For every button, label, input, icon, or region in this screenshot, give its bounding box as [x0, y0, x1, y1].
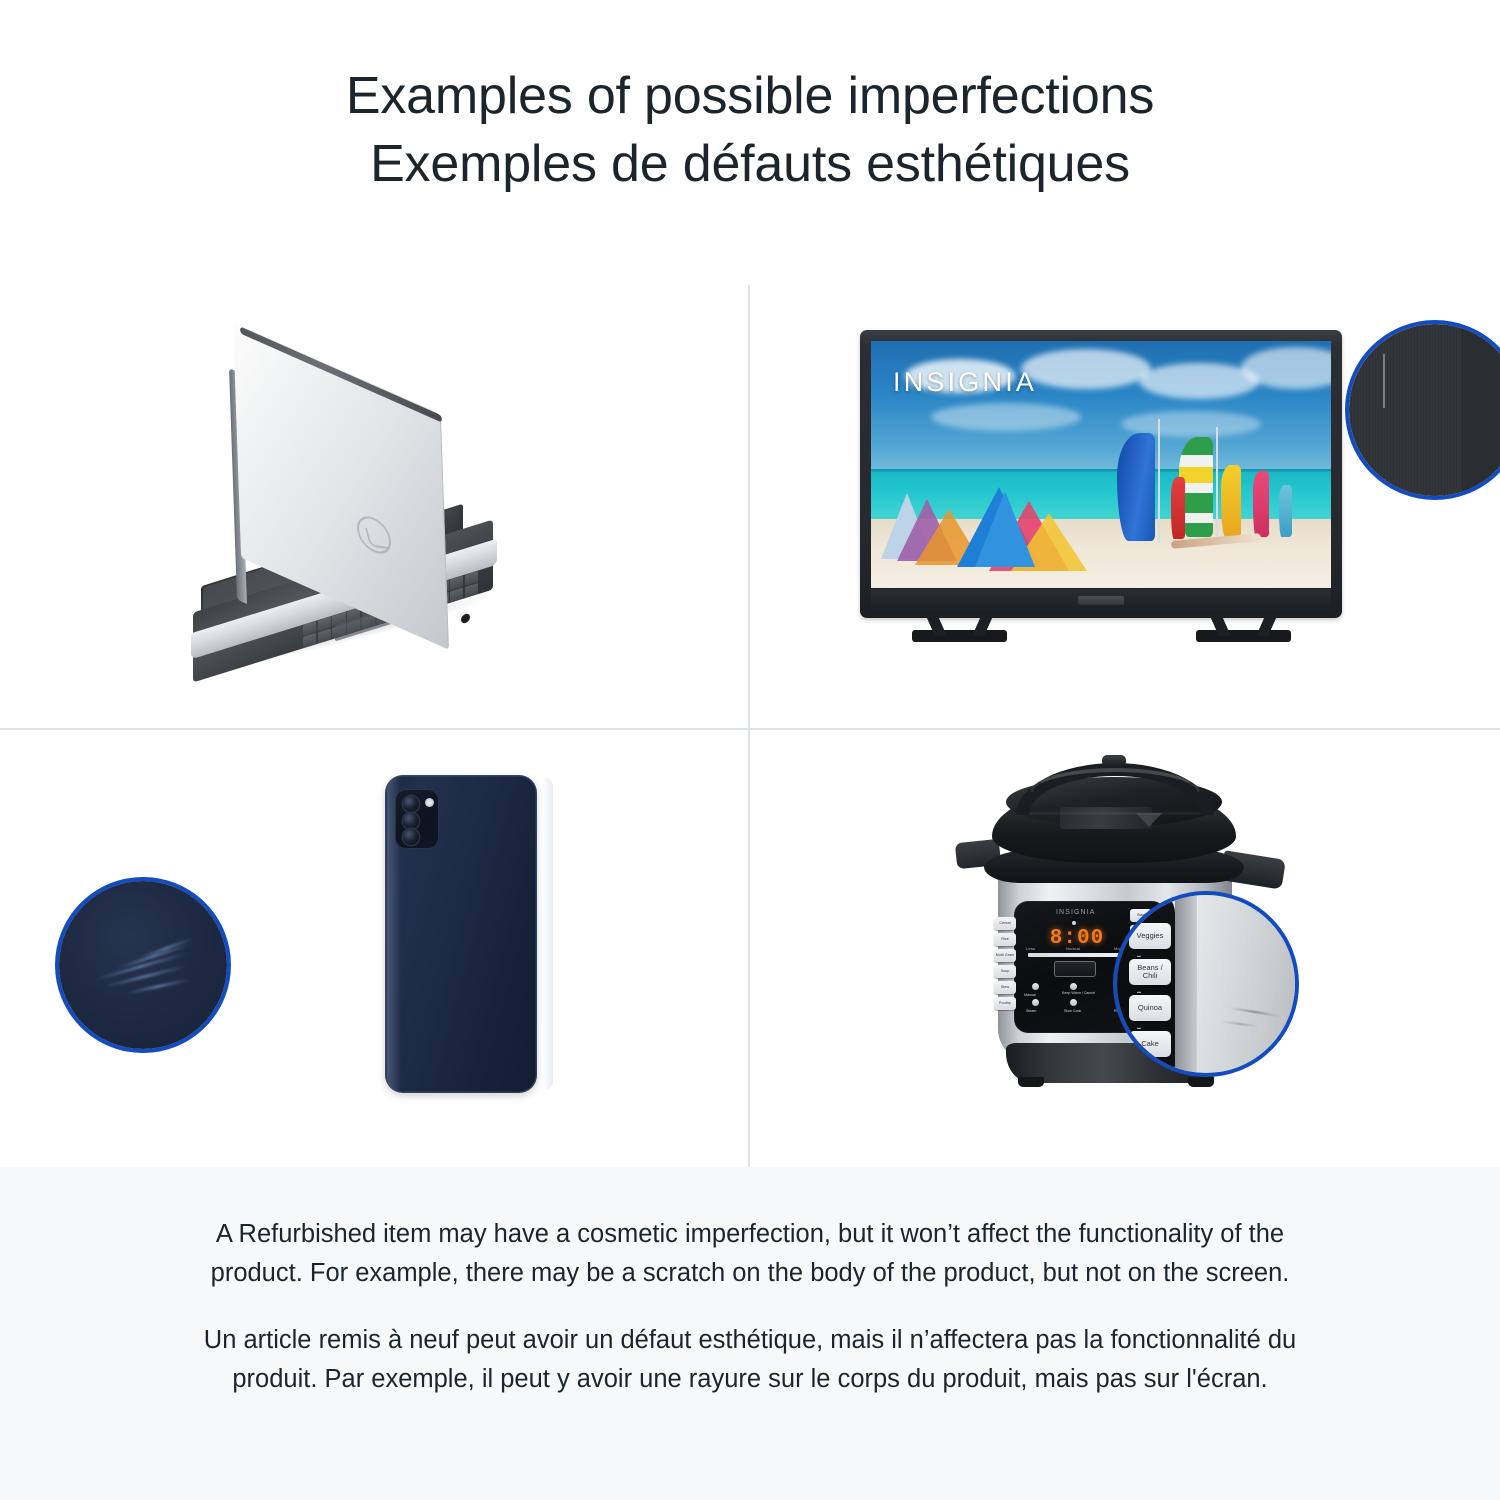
cooker-magnifier-button-veggies[interactable]: Veggies — [1129, 923, 1171, 949]
smartphone-scratch-magnifier — [55, 877, 231, 1053]
cooker-key-manual[interactable] — [1032, 983, 1039, 990]
cooker-magnifier-tick: ▬ — [1137, 1025, 1141, 1030]
screen-sailboat — [1171, 477, 1185, 539]
screen-sailboat — [1253, 471, 1269, 537]
page-title-english: Examples of possible imperfections — [346, 62, 1154, 130]
cooker-button-soup[interactable]: Soup — [994, 965, 1016, 978]
cooker-bar-label-less: Less — [1026, 946, 1035, 951]
smartphone-camera-module — [395, 789, 439, 849]
camera-lens-icon — [403, 796, 419, 812]
screen-beach-kite — [975, 491, 1035, 567]
screen-mast — [1216, 427, 1218, 541]
screen-sailboat — [1221, 465, 1241, 537]
camera-flash-icon — [425, 798, 434, 807]
cooker-button-multigrain[interactable]: Multi Grain — [994, 949, 1016, 962]
examples-grid: INSIGNIA — [0, 285, 1500, 1167]
screen-cloud — [931, 403, 1081, 431]
cooker-lid-marker-icon — [1136, 813, 1162, 827]
smartphone-imperfection-example — [0, 730, 748, 1167]
cooker-key-label-steam: Steam — [1026, 1009, 1036, 1013]
television-leg-right — [1196, 630, 1291, 642]
smartphone-illustration — [355, 775, 585, 1125]
television-leg-left — [912, 630, 1007, 642]
page-header: Examples of possible imperfections Exemp… — [0, 0, 1500, 255]
pressure-cooker-illustration: INSIGNIA 8:00 Less Normal More — [950, 755, 1310, 1145]
cooker-sub-display — [1054, 961, 1096, 977]
cooker-key-keep-warm[interactable] — [1070, 983, 1077, 990]
cooker-key-label-slow-cook: Slow Cook — [1064, 1009, 1081, 1013]
cooker-button-cereal[interactable]: Cereal — [994, 917, 1016, 930]
page-title-french: Exemples de défauts esthétiques — [370, 130, 1130, 198]
television-imperfection-example: INSIGNIA — [750, 285, 1500, 728]
footer-paragraph-french: Un article remis à neuf peut avoir un dé… — [175, 1321, 1325, 1399]
television-magnifier-side-panel — [1461, 320, 1500, 500]
laptop-imperfection-example — [0, 285, 748, 728]
cooker-pressure-valve — [1102, 755, 1126, 767]
footer-description-panel: A Refurbished item may have a cosmetic i… — [0, 1167, 1500, 1500]
cooker-indicator-light — [1072, 921, 1076, 925]
television-bezel-magnifier — [1345, 320, 1500, 500]
cooker-left-button-column: Cereal Rice Multi Grain Soup Stew Poultr… — [994, 917, 1016, 1010]
cooker-foot — [1018, 1077, 1044, 1087]
pressure-cooker-imperfection-example: INSIGNIA 8:00 Less Normal More — [750, 730, 1500, 1167]
refurbished-imperfections-infographic: Examples of possible imperfections Exemp… — [0, 0, 1500, 1500]
laptop-illustration — [185, 370, 545, 650]
cooker-magnifier-button-beans-chili[interactable]: Beans / Chili — [1129, 959, 1171, 985]
cooker-key-label-manual: Manual — [1024, 993, 1036, 997]
laptop-stage — [0, 285, 748, 728]
cooker-handle-highlight — [1030, 768, 1200, 792]
footer-paragraph-english: A Refurbished item may have a cosmetic i… — [175, 1215, 1325, 1293]
television-body: INSIGNIA — [860, 330, 1342, 618]
screen-sailboat — [1117, 433, 1155, 541]
television-screen: INSIGNIA — [871, 341, 1331, 588]
cooker-magnifier-tick: ▬ — [1137, 953, 1141, 958]
cooker-key-slow-cook[interactable] — [1070, 999, 1077, 1006]
cooker-brand-label: INSIGNIA — [1056, 909, 1096, 916]
television-stage: INSIGNIA — [750, 285, 1500, 728]
screen-cloud — [1021, 349, 1151, 389]
cooker-bar-label-normal: Normal — [1066, 946, 1080, 951]
cooker-magnifier-button-quinoa[interactable]: Quinoa — [1129, 995, 1171, 1021]
smartphone-stage — [0, 730, 748, 1167]
television-illustration: INSIGNIA — [860, 330, 1380, 690]
pressure-cooker-stage: INSIGNIA 8:00 Less Normal More — [750, 730, 1500, 1167]
cooker-magnifier-button-cake[interactable]: Cake — [1129, 1031, 1171, 1057]
cooker-button-rice[interactable]: Rice — [994, 933, 1016, 946]
television-scuff-mark — [1383, 354, 1385, 408]
cooker-foot — [1188, 1077, 1214, 1087]
camera-lens-icon — [403, 829, 419, 845]
cooker-key-steam[interactable] — [1032, 999, 1039, 1006]
smartphone-edge-highlight-right — [543, 777, 553, 1091]
television-badge — [1078, 596, 1124, 605]
television-brand-logo: INSIGNIA — [893, 367, 1037, 398]
screen-sailboat — [1279, 485, 1292, 537]
cooker-button-poultry[interactable]: Poultry — [994, 997, 1016, 1010]
cooker-magnifier-steel-strip — [1175, 891, 1197, 1077]
cooker-key-label-keep-warm: Keep Warm / Cancel — [1062, 991, 1095, 995]
pressure-cooker-scratch-magnifier: Delay Slow Cook ▬ Veggies ▬ Beans / Chil… — [1113, 891, 1299, 1077]
laptop-audio-port — [461, 613, 470, 625]
camera-lens-icon — [403, 813, 419, 829]
cooker-magnifier-tick: ▬ — [1137, 989, 1141, 994]
screen-mast — [1158, 419, 1160, 543]
cooker-button-stew[interactable]: Stew — [994, 981, 1016, 994]
